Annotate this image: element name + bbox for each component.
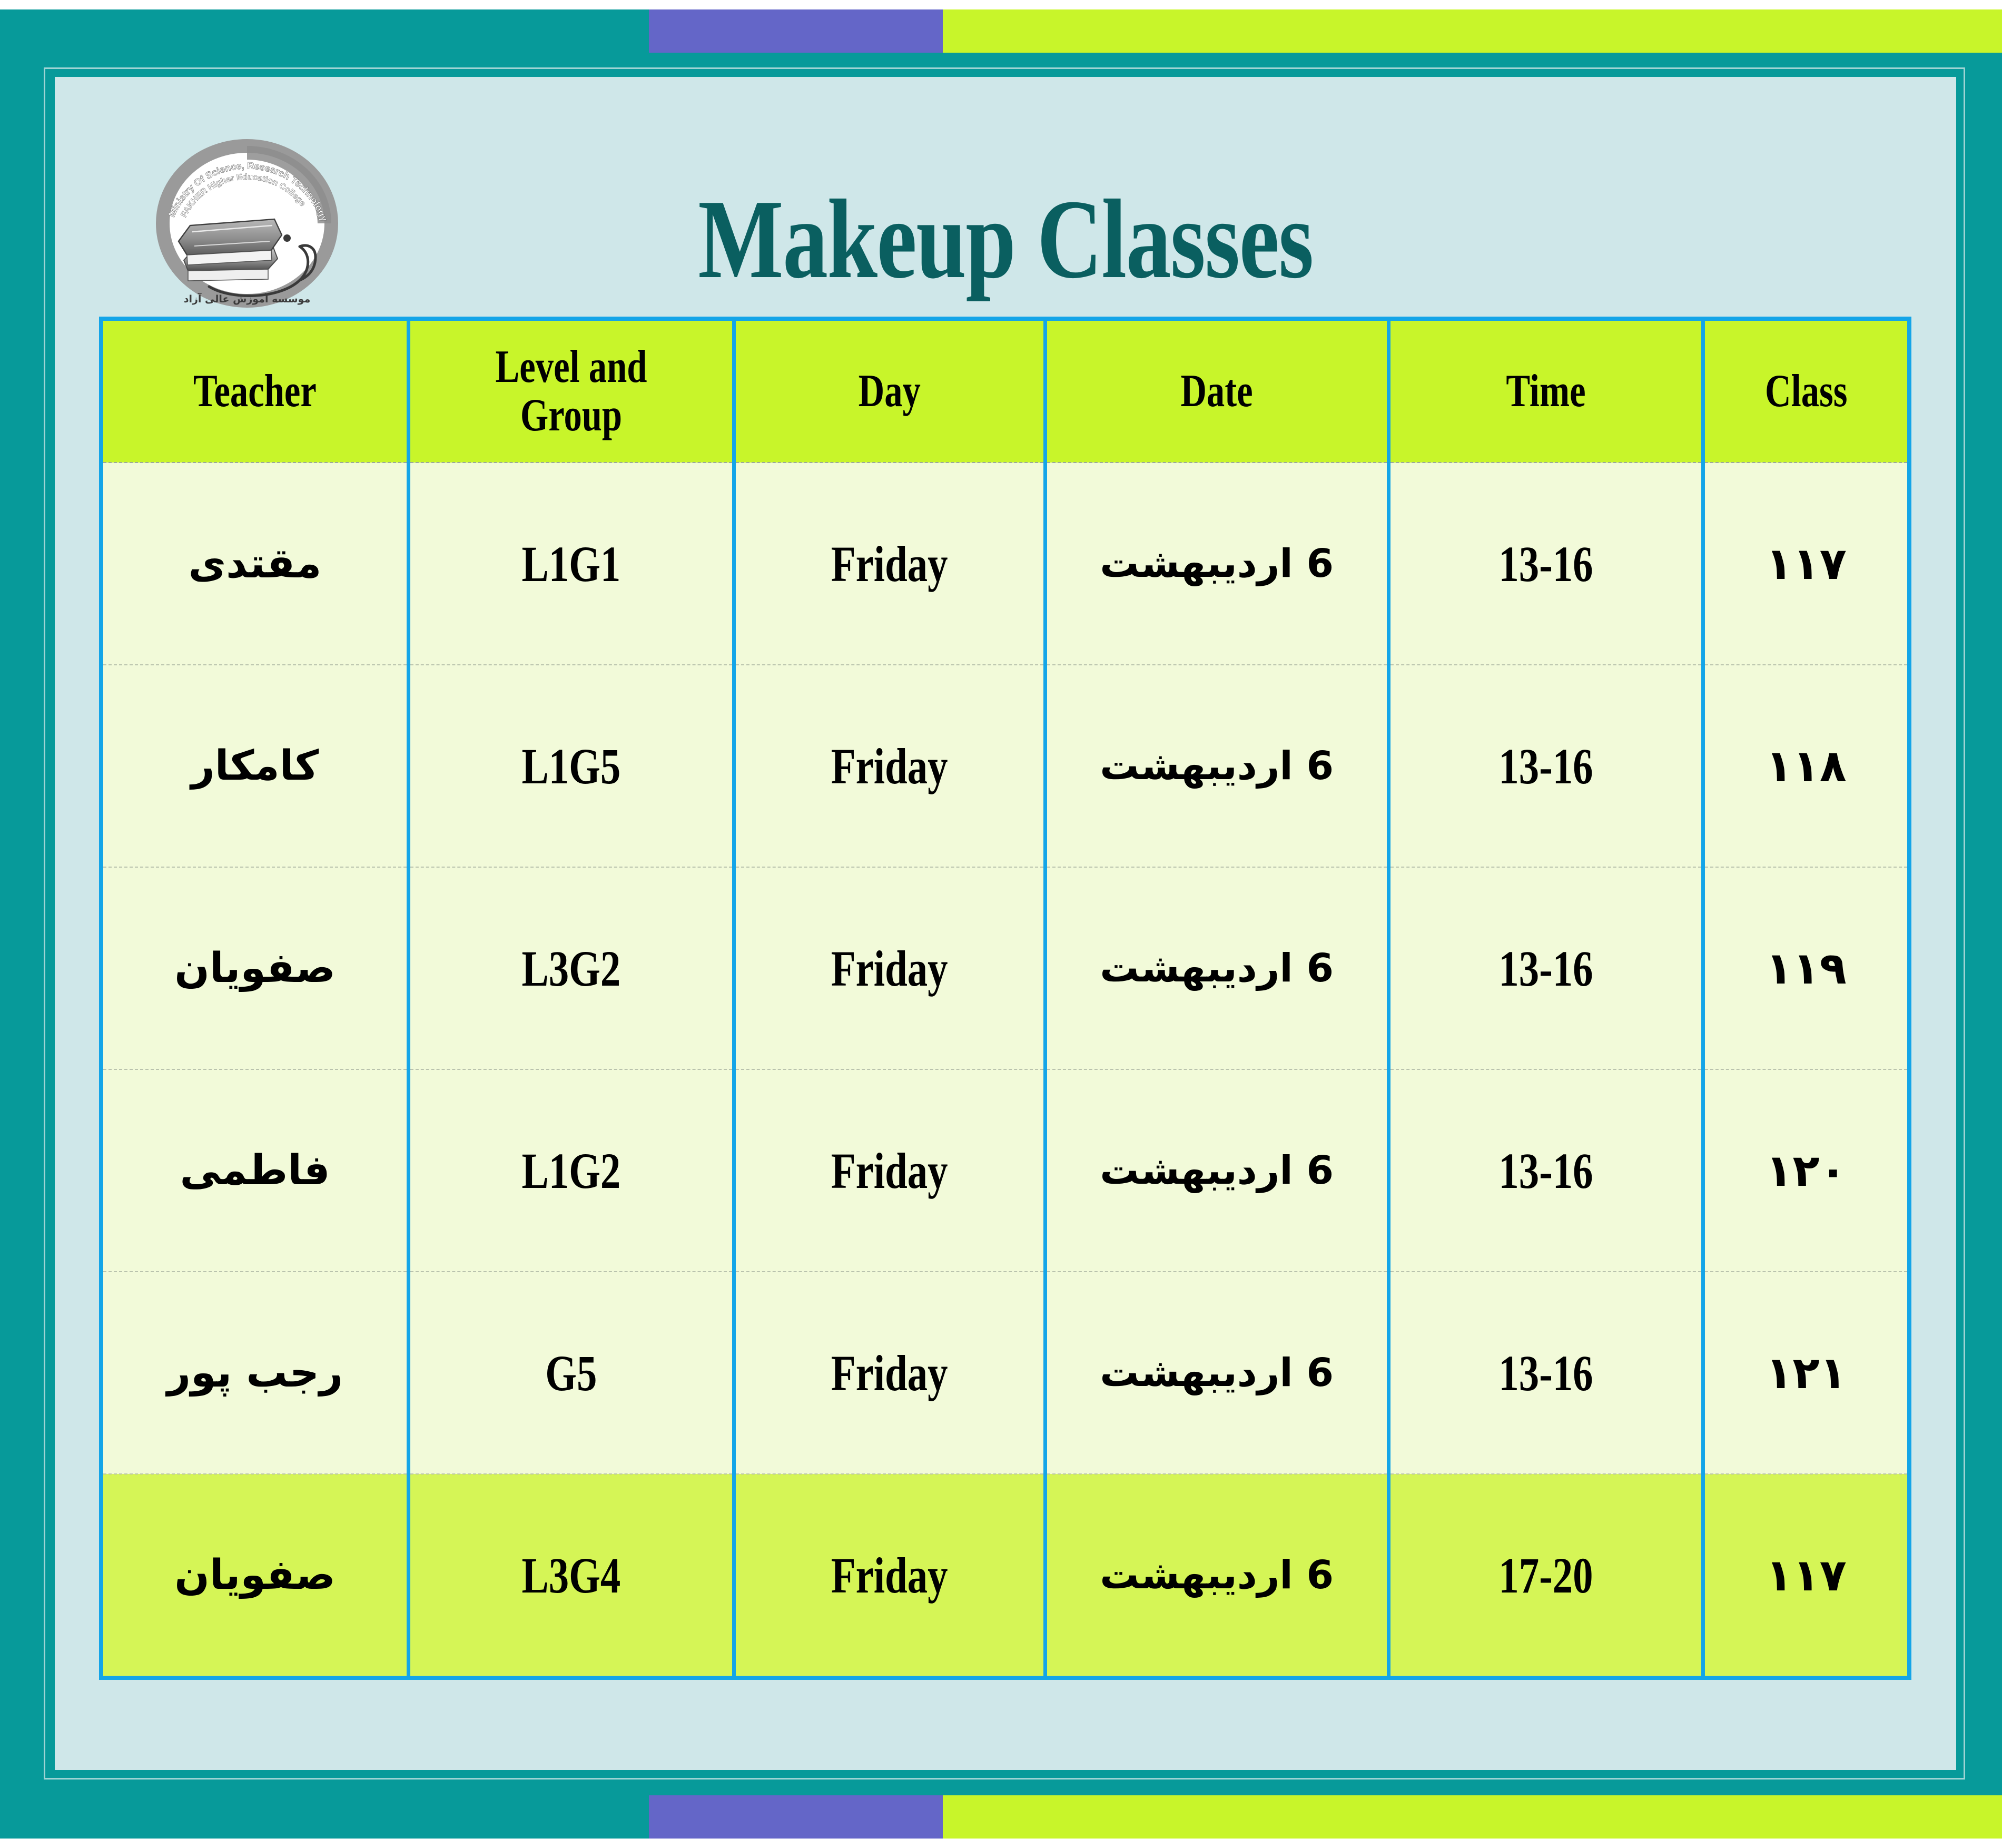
cell-teacher: صفویان — [101, 867, 409, 1069]
poster-frame: Ministry Of Science, Research Technology… — [0, 9, 2002, 1839]
cell-time: 17-20 — [1388, 1474, 1703, 1678]
page-title: Makeup Classes — [245, 182, 1766, 296]
cell-time: 13-16 — [1388, 665, 1703, 867]
content-panel: Ministry Of Science, Research Technology… — [55, 77, 1956, 1770]
table-row: رجب پور G5 Friday 6 اردیبهشت 13-16 ۱۲۱ — [101, 1272, 1909, 1474]
column-header-time: Time — [1388, 319, 1703, 463]
cell-day: Friday — [734, 1474, 1045, 1678]
cell-class: ۱۲۱ — [1703, 1272, 1909, 1474]
cell-day: Friday — [734, 463, 1045, 665]
cell-teacher: فاطمی — [101, 1069, 409, 1272]
deco-block-teal — [0, 1795, 649, 1839]
cell-day: Friday — [734, 1272, 1045, 1474]
cell-date: 6 اردیبهشت — [1045, 867, 1388, 1069]
schedule-table-wrap: Teacher Level and Group Day Date Time Cl… — [99, 317, 1911, 1680]
cell-level-group: L1G1 — [409, 463, 734, 665]
cell-time: 13-16 — [1388, 463, 1703, 665]
cell-date: 6 اردیبهشت — [1045, 665, 1388, 867]
top-decoration-strip — [0, 9, 2002, 53]
table-row: مقتدی L1G1 Friday 6 اردیبهشت 13-16 ۱۱۷ — [101, 463, 1909, 665]
cell-teacher: مقتدی — [101, 463, 409, 665]
column-header-level-and-group: Level and Group — [409, 319, 734, 463]
cell-day: Friday — [734, 867, 1045, 1069]
cell-class: ۱۲۰ — [1703, 1069, 1909, 1272]
column-header-date: Date — [1045, 319, 1388, 463]
cell-level-group: L1G2 — [409, 1069, 734, 1272]
cell-class: ۱۱۹ — [1703, 867, 1909, 1069]
table-row: صفویان L3G4 Friday 6 اردیبهشت 17-20 ۱۱۷ — [101, 1474, 1909, 1678]
table-row: فاطمی L1G2 Friday 6 اردیبهشت 13-16 ۱۲۰ — [101, 1069, 1909, 1272]
cell-time: 13-16 — [1388, 1272, 1703, 1474]
cell-date: 6 اردیبهشت — [1045, 463, 1388, 665]
cell-teacher: صفویان — [101, 1474, 409, 1678]
cell-level-group: L3G2 — [409, 867, 734, 1069]
cell-time: 13-16 — [1388, 1069, 1703, 1272]
cell-level-group: L3G4 — [409, 1474, 734, 1678]
cell-level-group: L1G5 — [409, 665, 734, 867]
table-row: صفویان L3G2 Friday 6 اردیبهشت 13-16 ۱۱۹ — [101, 867, 1909, 1069]
cell-class: ۱۱۷ — [1703, 463, 1909, 665]
cell-date: 6 اردیبهشت — [1045, 1474, 1388, 1678]
cell-day: Friday — [734, 665, 1045, 867]
deco-block-purple — [649, 1795, 943, 1839]
deco-block-lime — [943, 1795, 2002, 1839]
deco-block-lime — [943, 9, 2002, 53]
column-header-teacher: Teacher — [101, 319, 409, 463]
makeup-classes-table: Teacher Level and Group Day Date Time Cl… — [99, 317, 1911, 1680]
cell-class: ۱۱۸ — [1703, 665, 1909, 867]
bottom-decoration-strip — [0, 1795, 2002, 1839]
cell-teacher: کامکار — [101, 665, 409, 867]
cell-date: 6 اردیبهشت — [1045, 1272, 1388, 1474]
deco-block-purple — [649, 9, 943, 53]
deco-block-teal — [0, 9, 649, 53]
cell-level-group: G5 — [409, 1272, 734, 1474]
cell-class: ۱۱۷ — [1703, 1474, 1909, 1678]
cell-teacher: رجب پور — [101, 1272, 409, 1474]
table-header-row: Teacher Level and Group Day Date Time Cl… — [101, 319, 1909, 463]
table-row: کامکار L1G5 Friday 6 اردیبهشت 13-16 ۱۱۸ — [101, 665, 1909, 867]
cell-date: 6 اردیبهشت — [1045, 1069, 1388, 1272]
column-header-day: Day — [734, 319, 1045, 463]
cell-time: 13-16 — [1388, 867, 1703, 1069]
cell-day: Friday — [734, 1069, 1045, 1272]
column-header-class: Class — [1703, 319, 1909, 463]
